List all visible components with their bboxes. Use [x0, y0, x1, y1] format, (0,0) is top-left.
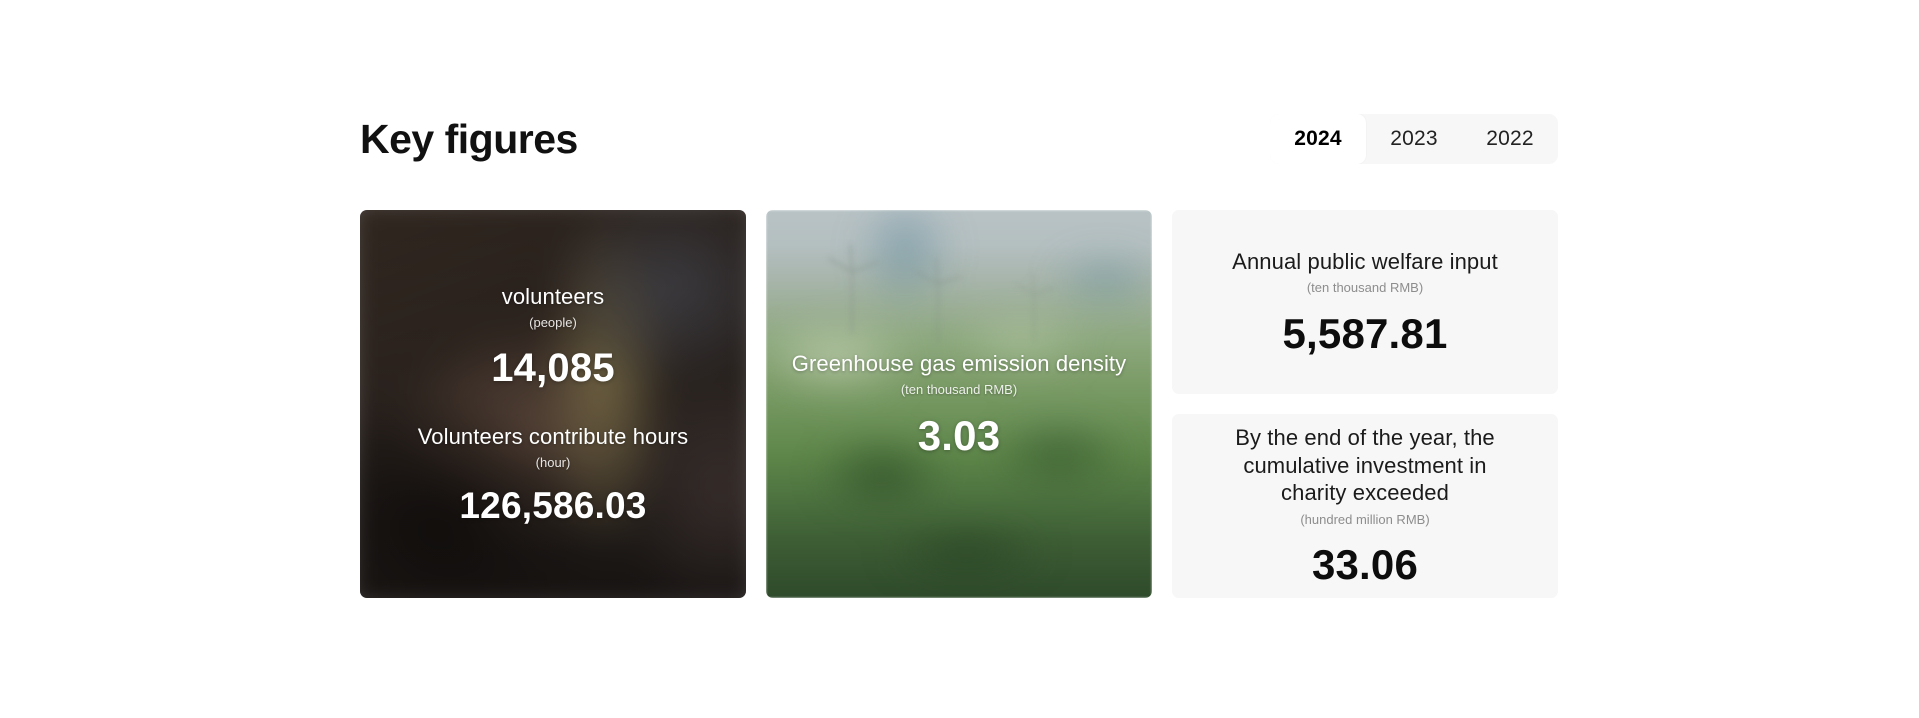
stat-unit: (hour) — [372, 453, 734, 473]
stat-label: By the end of the year, the cumulative i… — [1218, 424, 1512, 507]
stat-unit: (people) — [372, 313, 734, 333]
photo-dark-overlay — [360, 210, 746, 598]
stat-value: 14,085 — [372, 347, 734, 389]
stat-volunteers-count: volunteers (people) 14,085 — [360, 283, 746, 389]
stat-label: Annual public welfare input — [1218, 248, 1512, 276]
card-annual-public-welfare-input[interactable]: Annual public welfare input (ten thousan… — [1172, 210, 1558, 394]
stat-value: 3.03 — [778, 414, 1140, 458]
stat-label: Volunteers contribute hours — [372, 423, 734, 451]
stat-label: volunteers — [372, 283, 734, 311]
page-title: Key figures — [360, 119, 578, 160]
section-header: Key figures 2024 2023 2022 — [360, 108, 1558, 170]
key-figures-card-grid: volunteers (people) 14,085 Volunteers co… — [360, 210, 1558, 598]
stat-volunteer-hours: Volunteers contribute hours (hour) 126,5… — [360, 423, 746, 526]
stat-cumulative-charity-investment: By the end of the year, the cumulative i… — [1206, 424, 1524, 587]
stat-annual-public-welfare-input: Annual public welfare input (ten thousan… — [1206, 248, 1524, 356]
stat-unit: (ten thousand RMB) — [778, 380, 1140, 400]
plain-cards-column: Annual public welfare input (ten thousan… — [1172, 210, 1558, 598]
year-selector[interactable]: 2024 2023 2022 — [1270, 114, 1558, 164]
stat-value: 33.06 — [1218, 543, 1512, 587]
stat-value: 126,586.03 — [372, 487, 734, 526]
year-tab-2022[interactable]: 2022 — [1462, 114, 1558, 164]
stat-value: 5,587.81 — [1218, 312, 1512, 356]
stat-unit: (ten thousand RMB) — [1218, 278, 1512, 298]
card-cumulative-charity-investment[interactable]: By the end of the year, the cumulative i… — [1172, 414, 1558, 598]
year-tab-2023[interactable]: 2023 — [1366, 114, 1462, 164]
year-tab-2024[interactable]: 2024 — [1270, 114, 1366, 164]
stat-unit: (hundred million RMB) — [1218, 510, 1512, 530]
card-volunteers[interactable]: volunteers (people) 14,085 Volunteers co… — [360, 210, 746, 598]
key-figures-page: Key figures 2024 2023 2022 volunteers (p… — [0, 0, 1919, 718]
stat-greenhouse-gas-emission-density: Greenhouse gas emission density (ten tho… — [766, 350, 1152, 458]
stat-label: Greenhouse gas emission density — [778, 350, 1140, 378]
card-greenhouse-gas-emission-density[interactable]: Greenhouse gas emission density (ten tho… — [766, 210, 1152, 598]
